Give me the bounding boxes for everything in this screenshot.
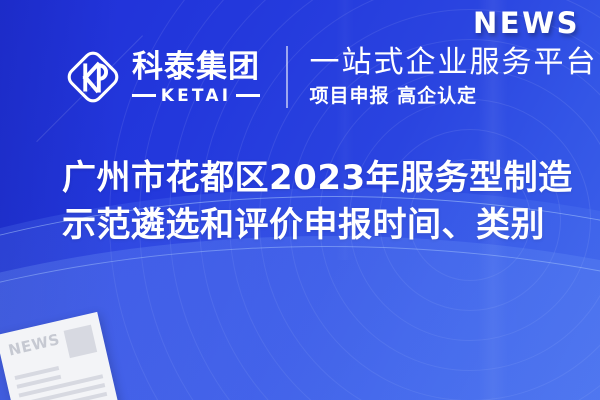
brand-name-en-row: KETAI: [132, 87, 260, 105]
brand-logo[interactable]: 科泰集团 KETAI: [62, 46, 260, 108]
brand-logo-text: 科泰集团 KETAI: [132, 50, 260, 105]
brand-name-en: KETAI: [161, 87, 232, 105]
brand-name-cn: 科泰集团: [132, 50, 260, 84]
ketai-monogram-icon: [62, 46, 124, 108]
header-divider: [286, 46, 288, 108]
page-title: 广州市花都区2023年服务型制造示范遴选和评价申报时间、类别: [62, 155, 582, 249]
logo-dash-right: [236, 94, 260, 97]
tagline-sub: 项目申报 高企认定: [310, 83, 598, 109]
logo-dash-left: [132, 94, 156, 97]
news-wordmark: NEWS: [473, 6, 580, 40]
tagline-main: 一站式企业服务平台: [310, 45, 598, 81]
newspaper-heading: NEWS: [7, 330, 62, 359]
banner-header: 科泰集团 KETAI 一站式企业服务平台 项目申报 高企认定: [0, 36, 600, 118]
tagline-block: 一站式企业服务平台 项目申报 高企认定: [310, 45, 598, 109]
newspaper-image-block: [64, 325, 98, 359]
news-banner: NEWS 科泰集团 KETAI: [0, 0, 600, 400]
